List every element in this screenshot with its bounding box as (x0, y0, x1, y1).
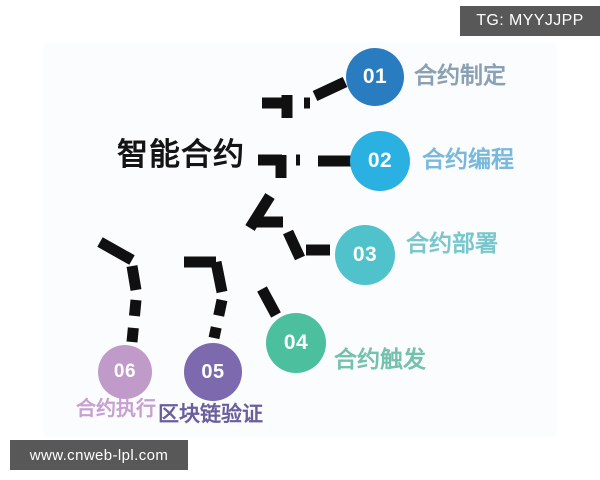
node-04-number: 04 (284, 331, 308, 355)
website-watermark-text: www.cnweb-lpl.com (30, 447, 169, 464)
node-03-number: 03 (353, 243, 377, 267)
node-05-number: 05 (201, 361, 224, 384)
node-01-bubble[interactable]: 01 (346, 48, 404, 106)
node-02-bubble[interactable]: 02 (350, 131, 410, 191)
node-02-number: 02 (368, 149, 392, 173)
node-05-label: 区块链验证 (158, 404, 263, 425)
node-05-bubble[interactable]: 05 (184, 343, 242, 401)
node-02-label: 合约编程 (422, 148, 514, 171)
node-01-label: 合约制定 (414, 64, 506, 87)
node-04-bubble[interactable]: 04 (266, 313, 326, 373)
telegram-badge: TG: MYYJJPP (460, 6, 600, 36)
website-watermark: www.cnweb-lpl.com (10, 440, 188, 470)
node-03-bubble[interactable]: 03 (335, 225, 395, 285)
node-01-number: 01 (363, 65, 387, 89)
node-06-bubble[interactable]: 06 (98, 345, 152, 399)
node-04-label: 合约触发 (334, 348, 426, 371)
page-title: 智能合约 (96, 138, 266, 172)
node-06-number: 06 (114, 361, 136, 383)
infographic-canvas: 智能合约 01 合约制定 02 合约编程 03 合约部署 04 合约触发 05 … (0, 0, 600, 480)
telegram-badge-text: TG: MYYJJPP (476, 12, 584, 30)
node-03-label: 合约部署 (406, 232, 498, 255)
node-06-label: 合约执行 (76, 399, 156, 419)
